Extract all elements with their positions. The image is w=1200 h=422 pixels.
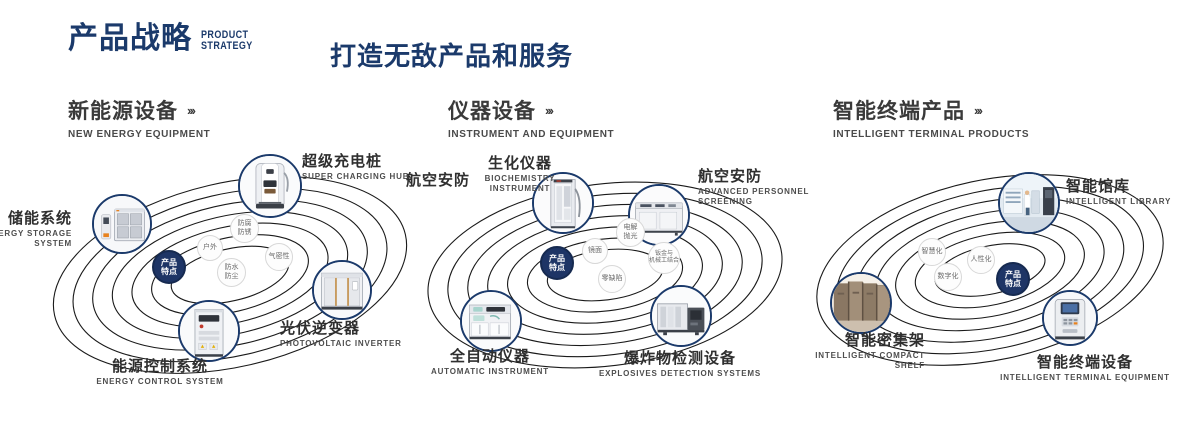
core-badge-product-features[interactable]: 产品 特点 [996, 262, 1030, 296]
core-badge-product-features[interactable]: 产品 特点 [540, 246, 574, 280]
label-energy-control-system: 能源控制系统 ENERGY CONTROL SYSTEM [60, 358, 260, 387]
page-subtitle: 打造无敌产品和服务 [330, 36, 573, 73]
product-photo-energy-control-system[interactable] [178, 300, 240, 362]
library-room-photo [1000, 174, 1058, 232]
label-intelligent-library: 智能馆库 INTELLIGENT LIBRARY [1066, 178, 1171, 207]
section-title-new-energy: 新能源设备 ››› NEW ENERGY EQUIPMENT [68, 95, 210, 140]
explosives-detector-photo [652, 287, 710, 345]
feature-bubble-2[interactable]: 人性化 [967, 246, 995, 274]
label-en: ENERGY STORAGE SYSTEM [0, 229, 72, 249]
core-badge-line1: 产品 [1005, 270, 1021, 280]
cluster-intelligent-terminal: 产品 特点 智慧化 人性化 数字化 智能馆库 INTELLIGENT LIBRA… [800, 150, 1200, 400]
label-cn: 超级充电桩 [302, 153, 409, 170]
page-title-cn: 产品战略 [68, 24, 192, 54]
label-en: AUTOMATIC INSTRUMENT [405, 367, 575, 377]
section-title-intelligent-terminal: 智能终端产品 ››› INTELLIGENT TERMINAL PRODUCTS [833, 95, 1029, 140]
section-title-en: NEW ENERGY EQUIPMENT [68, 129, 210, 140]
page-title-en: PRODUCT STRATEGY [201, 30, 253, 52]
product-photo-photovoltaic-inverter[interactable] [312, 260, 372, 320]
label-cn: 航空安防 [698, 168, 809, 185]
core-badge-line2: 特点 [1005, 279, 1021, 289]
feature-bubble-1[interactable]: 户外 [197, 235, 223, 261]
feature-bubble-3[interactable]: 气密性 [265, 243, 293, 271]
core-badge-line1: 产品 [549, 254, 565, 264]
label-cn: 储能系统 [0, 210, 72, 227]
label-en: ENERGY CONTROL SYSTEM [60, 377, 260, 387]
feature-bubble-4[interactable]: 防水 防尘 [217, 258, 246, 287]
product-photo-explosives-detection[interactable] [650, 285, 712, 347]
page-title-en-line2: STRATEGY [201, 41, 253, 52]
section-title-cn: 智能终端产品 [833, 95, 965, 125]
chevron-right-icon: ››› [187, 103, 194, 118]
feature-bubble-4[interactable]: 零缺陷 [598, 265, 626, 293]
label-intelligent-compact-shelf: 智能密集架 INTELLIGENT COMPACT SHELF [730, 332, 925, 371]
section-title-cn: 新能源设备 [68, 95, 178, 125]
feature-bubble-2[interactable]: 防腐 防锈 [230, 214, 259, 243]
label-advanced-personnel-screening: 航空安防 ADVANCED PERSONNEL SCREENING [698, 168, 809, 207]
label-en: BIOCHEMISTRY INSTRUMENT [440, 174, 600, 194]
feature-bubble-3[interactable]: 钣金与 机械工结合 [648, 242, 680, 274]
label-automatic-instrument: 全自动仪器 AUTOMATIC INSTRUMENT [405, 348, 575, 377]
control-cabinet-photo [180, 302, 238, 360]
feature-bubble-3[interactable]: 数字化 [934, 263, 962, 291]
label-biochemistry-instrument: 生化仪器 BIOCHEMISTRY INSTRUMENT [440, 155, 600, 194]
feature-bubble-1[interactable]: 智慧化 [918, 238, 946, 266]
section-title-en: INSTRUMENT AND EQUIPMENT [448, 129, 614, 140]
section-title-cn: 仪器设备 [448, 95, 536, 125]
label-photovoltaic-inverter: 光伏逆变器 PHOTOVOLTAIC INVERTER [280, 320, 402, 349]
charging-pile-photo [240, 156, 300, 216]
feature-bubble-1[interactable]: 镜面 [582, 238, 608, 264]
label-cn: 智能终端设备 [980, 354, 1190, 371]
core-badge-line2: 特点 [549, 263, 565, 273]
core-badge-line2: 特点 [161, 267, 177, 277]
label-cn: 光伏逆变器 [280, 320, 402, 337]
terminal-kiosk-photo [1044, 292, 1096, 344]
label-en: ADVANCED PERSONNEL SCREENING [698, 187, 809, 207]
section-title-instrument: 仪器设备 ››› INSTRUMENT AND EQUIPMENT [448, 95, 614, 140]
label-energy-storage-system: 储能系统 ENERGY STORAGE SYSTEM [0, 210, 72, 249]
compact-shelf-photo [832, 274, 890, 332]
chevron-right-icon: ››› [974, 103, 981, 118]
label-cn: 智能馆库 [1066, 178, 1171, 195]
product-photo-intelligent-terminal-equipment[interactable] [1042, 290, 1098, 346]
inverter-cabinet-photo [314, 262, 370, 318]
label-intelligent-terminal-equipment: 智能终端设备 INTELLIGENT TERMINAL EQUIPMENT [980, 354, 1190, 383]
product-photo-intelligent-compact-shelf[interactable] [830, 272, 892, 334]
feature-bubble-2[interactable]: 电解 抛光 [616, 218, 645, 247]
label-en: PHOTOVOLTAIC INVERTER [280, 339, 402, 349]
product-photo-energy-storage[interactable] [92, 194, 152, 254]
label-cn: 能源控制系统 [60, 358, 260, 375]
automatic-instrument-photo [462, 292, 520, 350]
section-title-en: INTELLIGENT TERMINAL PRODUCTS [833, 129, 1029, 140]
page-header: 产品战略 PRODUCT STRATEGY [68, 24, 264, 54]
product-photo-intelligent-library[interactable] [998, 172, 1060, 234]
label-en: INTELLIGENT LIBRARY [1066, 197, 1171, 207]
label-cn: 生化仪器 [440, 155, 600, 172]
product-photo-automatic-instrument[interactable] [460, 290, 522, 352]
label-en: INTELLIGENT TERMINAL EQUIPMENT [980, 373, 1190, 383]
label-cn: 智能密集架 [730, 332, 925, 349]
product-photo-super-charging-hub[interactable] [238, 154, 302, 218]
label-cn: 全自动仪器 [405, 348, 575, 365]
label-en: INTELLIGENT COMPACT SHELF [730, 351, 925, 371]
core-badge-line1: 产品 [161, 258, 177, 268]
core-badge-product-features[interactable]: 产品 特点 [152, 250, 186, 284]
chevron-right-icon: ››› [545, 103, 552, 118]
battery-cabinet-photo [94, 196, 150, 252]
